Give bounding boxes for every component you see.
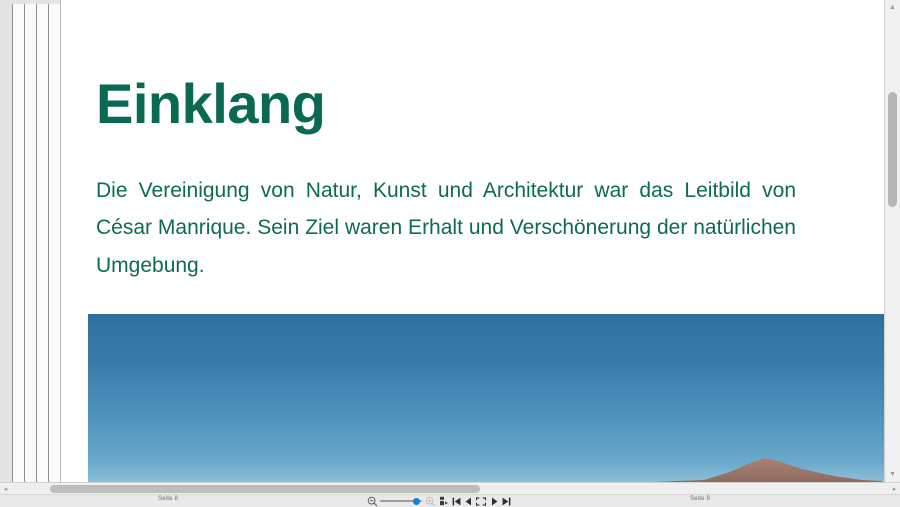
document-viewer-window: Einklang Die Vereinigung von Natur, Kuns…	[0, 0, 900, 506]
status-page-label-left: Seite 8	[158, 496, 178, 502]
horizontal-scrollbar-thumb[interactable]	[50, 485, 480, 493]
zoom-slider-handle[interactable]	[413, 498, 420, 505]
page-edge[interactable]	[48, 4, 60, 482]
previous-pages-stack[interactable]	[0, 0, 60, 482]
zoom-out-icon[interactable]	[366, 495, 378, 507]
photo-mountain	[652, 450, 882, 482]
triangle-right-icon[interactable]	[488, 495, 500, 507]
scroll-down-icon[interactable]: ▼	[885, 467, 900, 482]
triangle-left-icon[interactable]	[462, 495, 474, 507]
skip-to-end-icon[interactable]	[500, 495, 512, 507]
vertical-scrollbar[interactable]: ▲ ▼	[884, 0, 900, 482]
fit-page-icon[interactable]	[474, 495, 488, 507]
slide-canvas: Einklang Die Vereinigung von Natur, Kuns…	[61, 0, 886, 482]
triangle-down-glyph: ▼	[889, 471, 896, 478]
single-page-icon[interactable]	[436, 495, 450, 507]
status-bar: Seite 8 Seite 9	[0, 494, 900, 507]
slide-body-text: Die Vereinigung von Natur, Kunst und Arc…	[96, 172, 796, 284]
vertical-scrollbar-thumb[interactable]	[888, 92, 897, 207]
zoom-slider[interactable]	[379, 495, 423, 507]
view-controls	[366, 495, 512, 507]
zoom-in-icon[interactable]	[424, 495, 436, 507]
scroll-up-icon[interactable]: ▲	[885, 0, 900, 15]
skip-to-start-icon[interactable]	[450, 495, 462, 507]
triangle-left-glyph: ◂	[4, 486, 8, 493]
triangle-up-glyph: ▲	[889, 4, 896, 11]
slide-title: Einklang	[96, 76, 325, 132]
stack-gutter	[0, 0, 12, 482]
triangle-right-glyph: ▸	[893, 486, 897, 493]
status-page-label-right: Seite 9	[690, 496, 710, 502]
current-page[interactable]: Einklang Die Vereinigung von Natur, Kuns…	[60, 0, 886, 482]
landscape-photo	[88, 314, 886, 482]
